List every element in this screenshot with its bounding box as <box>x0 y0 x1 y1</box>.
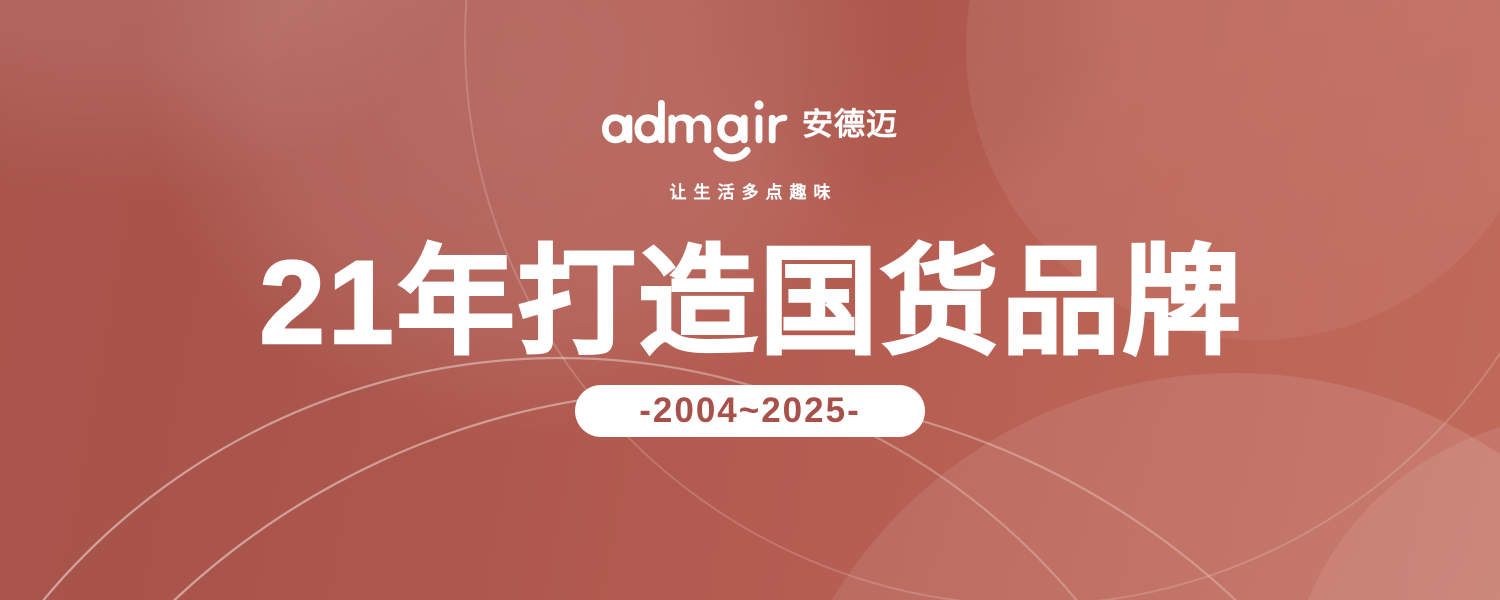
brand-anniversary-banner: 安德迈 让生活多点趣味 21年打造国货品牌 -2004~2025- <box>0 0 1500 600</box>
brand-chinese-name: 安德迈 <box>802 109 898 140</box>
smile-curve-icon <box>717 151 747 159</box>
banner-content: 安德迈 让生活多点趣味 21年打造国货品牌 -2004~2025- <box>0 0 1500 600</box>
date-range-label: -2004~2025- <box>639 393 860 428</box>
brand-logo-lockup: 安德迈 <box>602 100 898 162</box>
brand-tagline: 让生活多点趣味 <box>663 184 838 201</box>
admair-wordmark <box>602 100 788 162</box>
date-range-badge: -2004~2025- <box>575 385 925 437</box>
admair-wordmark-wrap <box>602 100 788 162</box>
headline-title: 21年打造国货品牌 <box>256 243 1243 363</box>
